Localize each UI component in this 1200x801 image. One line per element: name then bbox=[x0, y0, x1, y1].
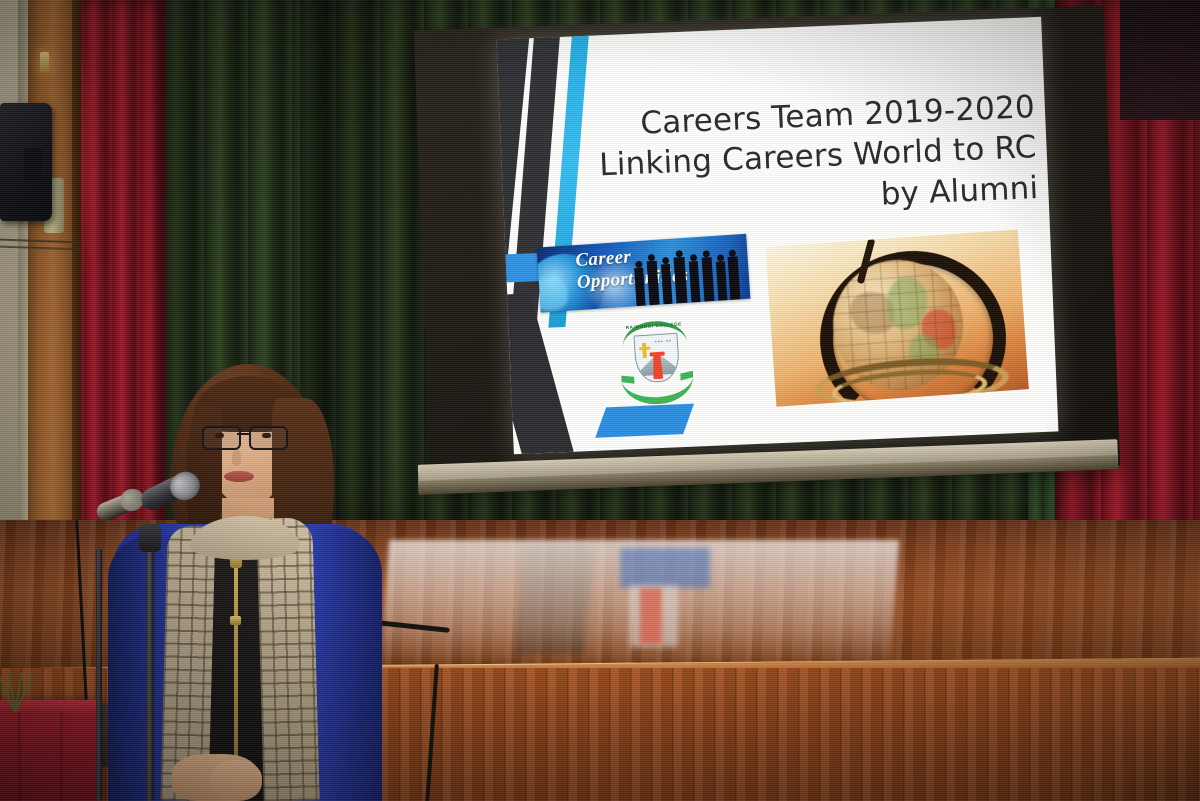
red-curtain-right-shadow bbox=[1120, 0, 1200, 120]
microphone-stand-primary bbox=[146, 536, 154, 801]
floor-reflection-banner bbox=[620, 548, 710, 588]
plant-leaves bbox=[0, 668, 34, 712]
red-table-fold bbox=[18, 712, 21, 801]
eye-left bbox=[215, 433, 224, 438]
stage-presentation-photo: Careers Team 2019-2020 Linking Careers W… bbox=[0, 0, 1200, 801]
eye-right bbox=[262, 433, 271, 438]
career-opportunities-banner: Career Opportunities bbox=[537, 234, 751, 313]
banner-people-silhouettes bbox=[631, 249, 746, 306]
lips bbox=[224, 471, 254, 482]
scarf-right-tail bbox=[256, 517, 319, 801]
zipper-pull-lower bbox=[230, 616, 241, 625]
crest-cross-bar bbox=[639, 346, 650, 350]
microphone-clip bbox=[139, 524, 161, 552]
slide-title: Careers Team 2019-2020 Linking Careers W… bbox=[594, 87, 1039, 226]
slide-blue-accent-bottom bbox=[595, 404, 694, 438]
glasses-lens-left bbox=[202, 426, 241, 450]
crest-stars-icon: *** ** bbox=[655, 340, 674, 352]
projected-slide: Careers Team 2019-2020 Linking Careers W… bbox=[497, 17, 1059, 454]
microphone-stand-secondary bbox=[96, 548, 102, 801]
red-draped-table bbox=[0, 700, 102, 801]
floor-reflection-tower bbox=[640, 588, 662, 644]
banner-globe-landmass bbox=[537, 276, 569, 313]
crest-ribbon bbox=[621, 375, 695, 407]
wall-speaker-bracket bbox=[24, 148, 42, 180]
crest-cross-icon bbox=[642, 343, 647, 358]
glasses-lens-right bbox=[249, 426, 288, 450]
hand-upper bbox=[210, 760, 262, 801]
pillar-light-fixture bbox=[40, 52, 49, 72]
red-table-fold-2 bbox=[60, 712, 63, 801]
school-crest: RAIMONDI COLLEGE *** ** bbox=[618, 319, 695, 402]
glasses-icon bbox=[202, 426, 294, 446]
nose bbox=[232, 450, 241, 466]
glasses-bridge bbox=[237, 433, 249, 435]
globe-photo bbox=[765, 229, 1029, 406]
